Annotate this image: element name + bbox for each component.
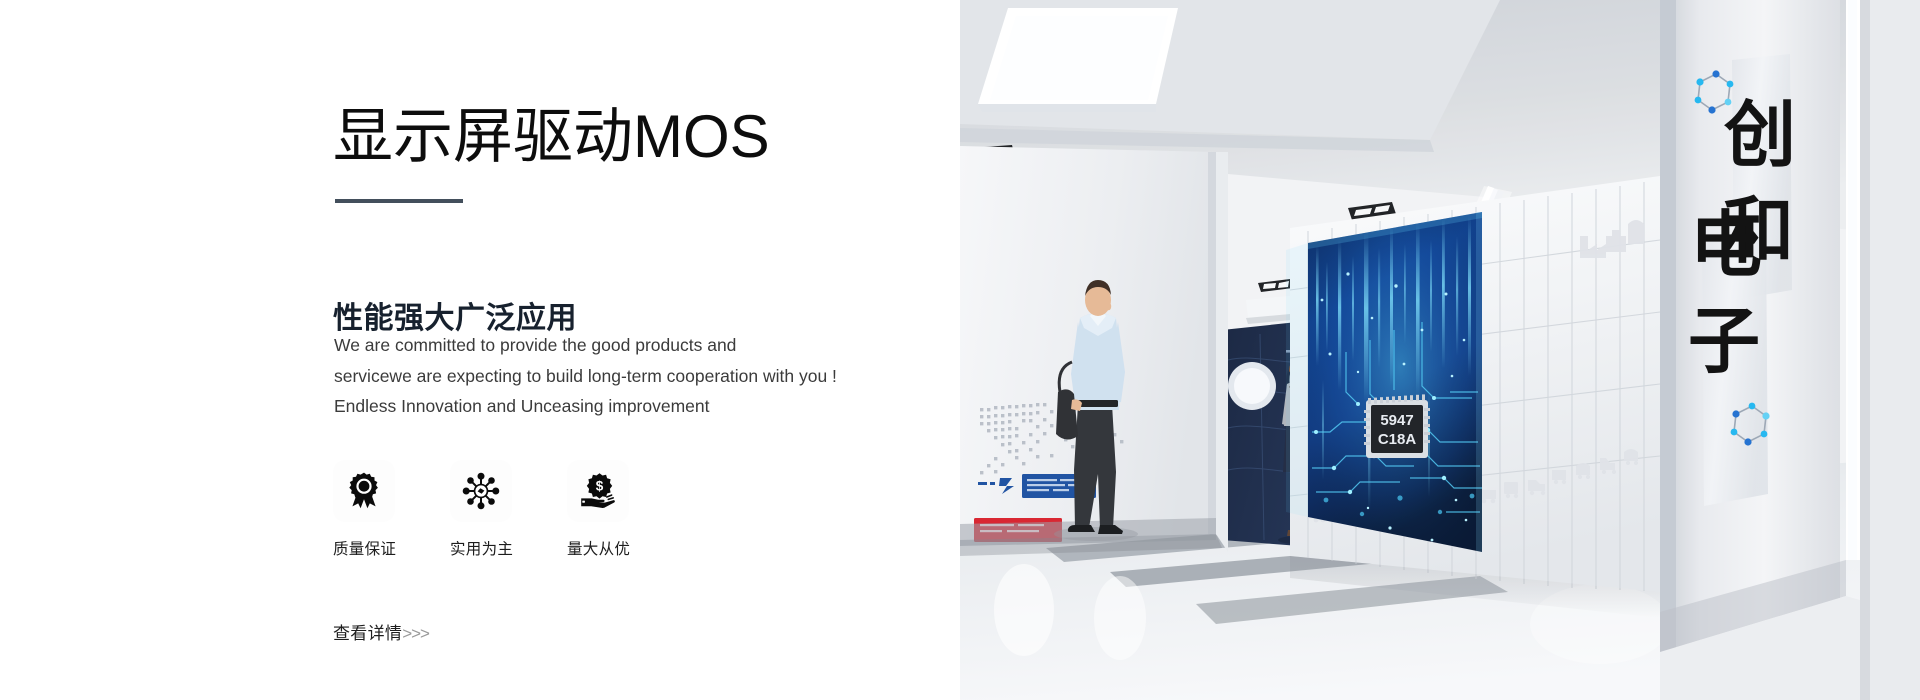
quality-medal-tile — [333, 460, 395, 522]
feature-label: 量大从优 — [567, 537, 643, 559]
feature-item-quality[interactable]: 质量保证 — [333, 460, 409, 559]
feature-item-practical[interactable]: 实用为主 — [450, 460, 526, 559]
view-details-link[interactable]: 查看详情>>> — [333, 619, 429, 644]
network-hub-tile — [450, 460, 512, 522]
title-divider — [335, 199, 463, 203]
feature-item-bulk-discount[interactable]: $ 量大从优 — [567, 460, 643, 559]
showroom-photo: 5947 C18A 创 和 — [960, 0, 1920, 700]
view-details-label: 查看详情 — [333, 624, 402, 643]
description-line-2: servicewe are expecting to build long-te… — [334, 361, 837, 392]
showroom-illustration: 5947 C18A 创 和 — [960, 0, 1920, 700]
text-panel: 显示屏驱动MOS 性能强大广泛应用 We are committed to pr… — [0, 0, 960, 700]
network-hub-icon — [461, 471, 501, 511]
feature-label: 实用为主 — [450, 537, 526, 559]
chevrons-icon: >>> — [402, 624, 429, 643]
svg-text:$: $ — [596, 478, 604, 493]
feature-label: 质量保证 — [333, 537, 409, 559]
feature-list: 质量保证 — [333, 460, 643, 559]
hand-money-icon: $ — [578, 471, 618, 511]
hand-money-tile: $ — [567, 460, 629, 522]
description: We are committed to provide the good pro… — [334, 330, 837, 422]
page-title: 显示屏驱动MOS — [333, 102, 770, 171]
description-line-1: We are committed to provide the good pro… — [334, 330, 837, 361]
description-line-3: Endless Innovation and Unceasing improve… — [334, 391, 837, 422]
hero-banner: 显示屏驱动MOS 性能强大广泛应用 We are committed to pr… — [0, 0, 1920, 700]
quality-medal-icon — [344, 471, 384, 511]
